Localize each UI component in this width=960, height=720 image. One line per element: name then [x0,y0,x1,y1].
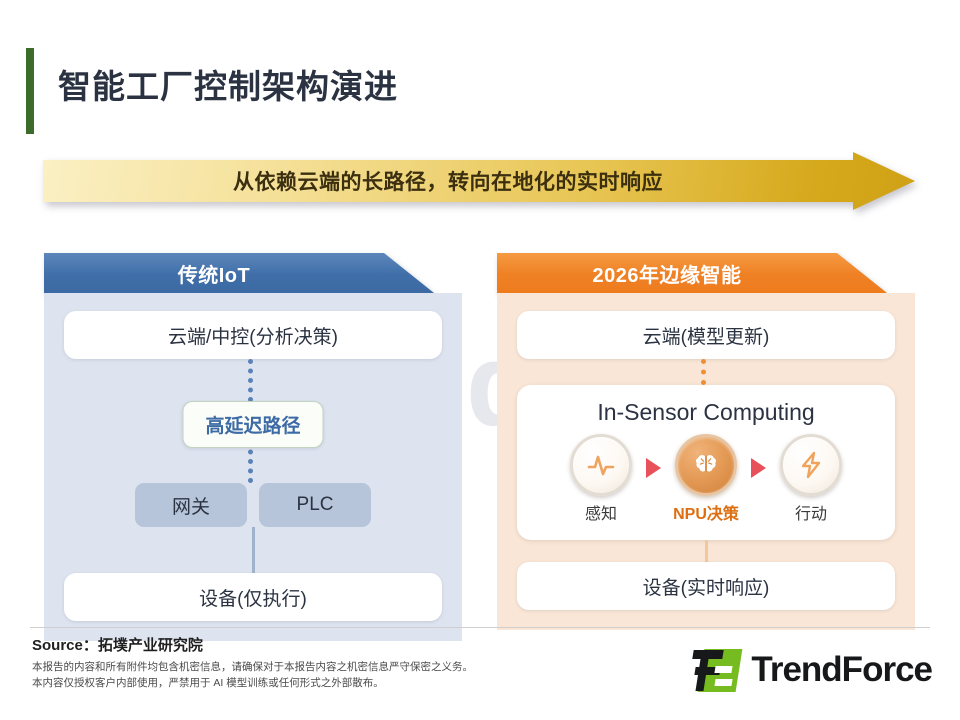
latency-badge: 高延迟路径 [182,401,323,448]
edge-connector-dotted [701,359,711,385]
legacy-device-box: 设备(仅执行) [64,573,442,621]
edge-ai-header-label: 2026年边缘智能 [497,253,837,293]
flow-arrow-2-icon [751,458,766,478]
disclaimer-text: 本报告的内容和所有附件均包含机密信息，请确保对于本报告内容之机密信息严守保密之义… [32,659,473,692]
edge-ai-column: 2026年边缘智能 云端(模型更新) In-Sensor Computing 感… [497,253,915,630]
pipeline-label-sense: 感知 [562,500,640,524]
transition-banner-arrow: 从依赖云端的长路径，转向在地化的实时响应 [43,152,915,210]
brain-icon [675,434,737,496]
gateway-box: 网关 [135,483,247,527]
edge-device-box: 设备(实时响应) [517,562,895,610]
plc-box: PLC [259,483,371,527]
trendforce-logo: TrendForce [693,646,932,694]
pipeline-label-npu: NPU决策 [667,500,745,524]
in-sensor-computing-card: In-Sensor Computing 感知 [517,385,895,540]
legacy-iot-column: 传统IoT 云端/中控(分析决策) 高延迟路径 网关 PLC 设备(仅执行) [44,253,462,641]
disclaimer-line-1: 本报告的内容和所有附件均包含机密信息，请确保对于本报告内容之机密信息严守保密之义… [32,659,473,675]
slide-canvas: TrendForce 智能工厂控制架构演进 从依赖云端的长路径，转向在地化的实时… [0,0,960,720]
pipeline-step-npu: NPU决策 [667,434,745,524]
edge-cloud-box: 云端(模型更新) [517,311,895,359]
legacy-iot-header-label: 传统IoT [44,253,384,293]
page-title: 智能工厂控制架构演进 [58,60,398,108]
trendforce-logo-mark [693,646,741,694]
pipeline-step-sense: 感知 [562,434,640,524]
waveform-icon [570,434,632,496]
title-accent-bar [26,48,34,134]
legacy-cloud-box: 云端/中控(分析决策) [64,311,442,359]
edge-ai-header: 2026年边缘智能 [497,253,915,293]
pipeline-step-act: 行动 [772,434,850,524]
footer-divider [30,627,930,628]
flow-arrow-1-icon [646,458,661,478]
legacy-connector-solid [252,527,255,573]
disclaimer-line-2: 本内容仅授权客户内部使用，严禁用于 AI 模型训练或任何形式之外部散布。 [32,675,473,691]
legacy-iot-header: 传统IoT [44,253,462,293]
lightning-icon [780,434,842,496]
legacy-iot-panel: 云端/中控(分析决策) 高延迟路径 网关 PLC 设备(仅执行) [44,293,462,641]
pipeline-label-act: 行动 [772,500,850,524]
in-sensor-computing-title: In-Sensor Computing [533,399,879,426]
edge-connector-solid [705,540,708,562]
source-label: Source：拓墣产业研究院 [32,634,203,655]
trendforce-wordmark: TrendForce [751,650,932,690]
pipeline-icon-row: 感知 NPU决策 [533,434,879,524]
legacy-mid-row: 网关 PLC [64,483,442,527]
edge-ai-panel: 云端(模型更新) In-Sensor Computing 感知 [497,293,915,630]
banner-text: 从依赖云端的长路径，转向在地化的实时响应 [43,152,853,210]
